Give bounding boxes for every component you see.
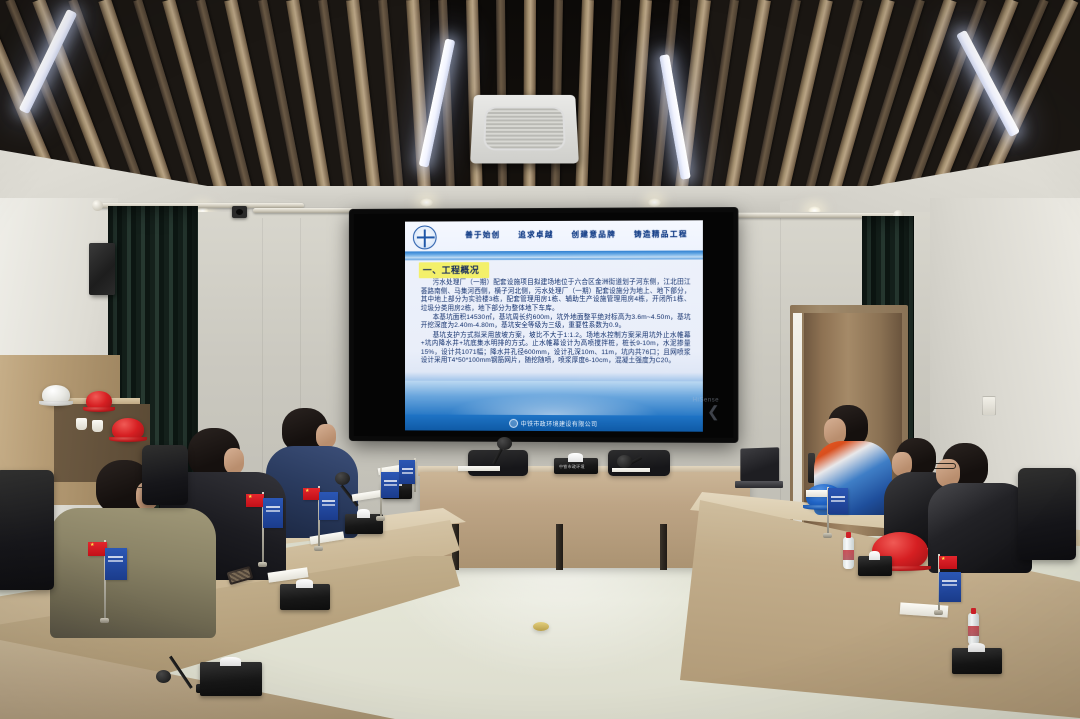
table-leg <box>660 524 667 570</box>
microphone-head <box>335 472 350 485</box>
presentation-slide: 善于始创 追求卓越 创建意品牌 铸造精品工程 一、工程概况 污水处理厂（一期）配… <box>405 220 703 431</box>
small-gold-object <box>533 622 549 631</box>
tissue-box-label: 中铁市政环境 <box>559 464 585 470</box>
office-chair[interactable] <box>142 445 188 505</box>
water-bottle <box>843 537 854 569</box>
face <box>224 448 244 474</box>
downlight <box>648 198 661 207</box>
slogan-phrase: 铸造精品工程 <box>634 228 688 239</box>
white-safety-helmet <box>42 385 70 405</box>
conference-room-photo: 善于始创 追求卓越 创建意品牌 铸造精品工程 一、工程概况 污水处理厂（一期）配… <box>0 0 1080 719</box>
flag-base <box>100 618 109 623</box>
tissue-box: 中铁市政环境 <box>554 458 598 474</box>
empty-chair[interactable] <box>1018 468 1076 560</box>
chinese-national-flag <box>939 556 957 569</box>
tissue-box <box>280 584 330 610</box>
presenter-laptop[interactable] <box>735 448 783 492</box>
table-leg <box>556 524 563 570</box>
laptop-lid <box>740 447 779 482</box>
tissue-box <box>858 556 892 576</box>
red-safety-helmet <box>112 418 144 441</box>
wall-speaker <box>89 243 115 295</box>
corporate-desk-flag <box>828 488 848 514</box>
microphone-head <box>497 437 512 450</box>
chinese-national-flag <box>303 488 320 500</box>
company-emblem-icon <box>413 225 437 249</box>
slide-header-rule-thin <box>405 258 703 261</box>
slide-body-text: 污水处理厂（一期）配套设施项目拟建场地位于六合区金洲街道划子河东侧，江北田江荟路… <box>421 279 691 367</box>
red-safety-helmet <box>86 391 112 411</box>
paper-cup <box>76 418 87 430</box>
ceiling <box>0 0 1080 208</box>
flag-base <box>258 562 267 567</box>
paper-cup <box>92 420 103 432</box>
tissue-box <box>952 648 1002 674</box>
footer-company-name: 中铁市政环境建设有限公司 <box>521 418 598 427</box>
corporate-desk-flag <box>381 472 399 498</box>
slide-decorative-graphic <box>405 381 703 416</box>
slide-paragraph: 污水处理厂（一期）配套设施项目拟建场地位于六合区金洲街道划子河东侧，江北田江荟路… <box>421 279 691 314</box>
microphone-head <box>617 455 632 468</box>
slide-paragraph: 本基坑面积14530㎡，基坑周长约600m，坑外地面整平绝对标高为3.6m~4.… <box>421 314 691 331</box>
wall-mounted-display[interactable]: 善于始创 追求卓越 创建意品牌 铸造精品工程 一、工程概况 污水处理厂（一期）配… <box>350 208 737 442</box>
corporate-desk-flag <box>939 572 961 602</box>
tissue-box <box>200 662 262 696</box>
face <box>316 424 336 448</box>
slide-header: 善于始创 追求卓越 创建意品牌 铸造精品工程 <box>405 220 703 251</box>
slide-paragraph: 基坑支护方式拟采用放坡方案，坡比不大于1:1.2。场地水控制方案采用坑外止水帷幕… <box>421 332 691 367</box>
slogan-phrase: 创建意品牌 <box>572 229 617 240</box>
office-chair[interactable] <box>0 470 54 590</box>
air-conditioner-unit <box>470 95 579 164</box>
downlight <box>420 198 433 207</box>
slide-section-title: 一、工程概况 <box>419 262 489 278</box>
flag-base <box>376 516 385 521</box>
water-bottle <box>968 613 979 645</box>
tv-screen: 善于始创 追求卓越 创建意品牌 铸造精品工程 一、工程概况 污水处理厂（一期）配… <box>354 212 734 438</box>
corporate-desk-flag <box>263 498 283 528</box>
tv-brand-mark-icon: ❮ <box>707 404 721 422</box>
ac-grille <box>483 107 566 151</box>
torso <box>50 508 216 638</box>
light-switch[interactable] <box>982 396 996 416</box>
chinese-national-flag <box>246 494 264 507</box>
flag-base <box>823 533 832 538</box>
slogan-phrase: 善于始创 <box>465 229 500 240</box>
slogan-phrase: 追求卓越 <box>518 229 554 240</box>
documents <box>458 466 500 471</box>
flag-base <box>934 610 943 615</box>
documents <box>612 468 650 472</box>
eyeglasses-icon <box>930 463 956 469</box>
flag-base <box>314 546 323 551</box>
microphone-head <box>156 670 171 683</box>
corporate-desk-flag <box>319 492 338 520</box>
slide-footer: 中铁市政环境建设有限公司 <box>405 414 703 431</box>
corporate-desk-flag <box>399 460 415 484</box>
curtain-rod <box>253 208 353 213</box>
corporate-desk-flag <box>105 548 127 580</box>
laptop-base <box>735 481 783 488</box>
ceiling-camera-icon <box>232 206 247 218</box>
footer-logo-icon <box>509 418 518 427</box>
slide-slogan: 善于始创 追求卓越 创建意品牌 铸造精品工程 <box>456 228 696 240</box>
